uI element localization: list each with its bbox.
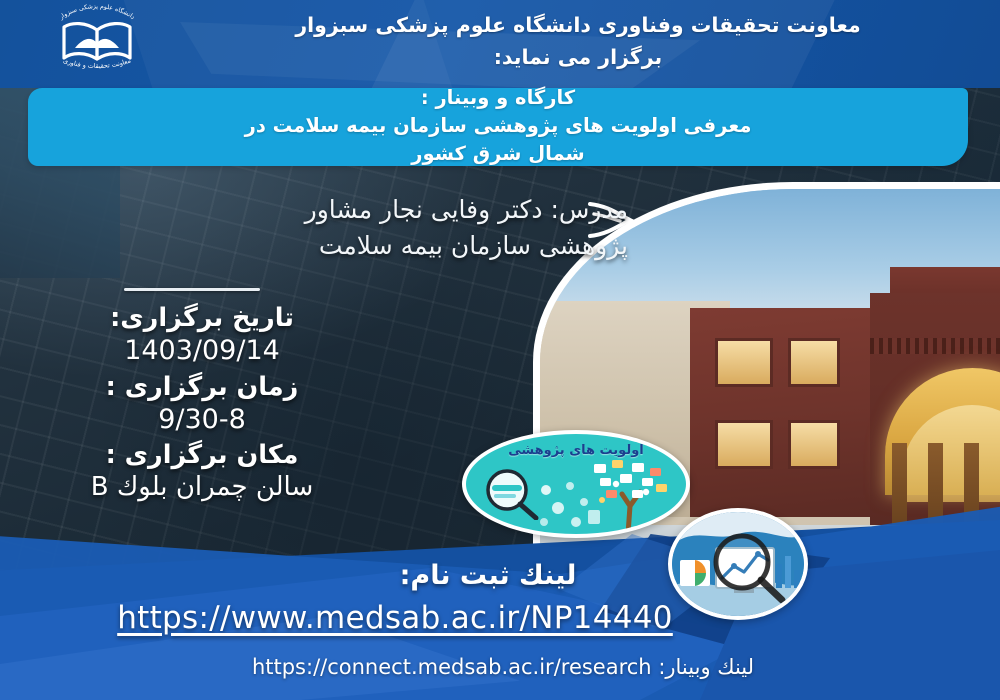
photo-balcony-railing (870, 338, 1000, 354)
university-logo: دانشگاه علوم پزشکی سبزوار معاونت تحقیقات… (38, 2, 156, 74)
detail-value-venue: سالن چمران بلوك B (0, 471, 404, 504)
title-banner: کارگاه و وبینار : معرفی اولویت های پژوهش… (28, 88, 968, 166)
poster-header: دانشگاه علوم پزشکی سبزوار معاونت تحقیقات… (0, 0, 1000, 88)
detail-value-time: 9/30-8 (0, 403, 404, 438)
header-title: معاونت تحقیقات وفناوری دانشگاه علوم پزشک… (178, 10, 978, 74)
research-priorities-badge: اولویت های پژوهشی (462, 430, 690, 538)
webinar-label: لینك وبینار: (658, 655, 754, 679)
presenter-info: مدرس: دکتر وفایی نجار مشاور پژوهشی سازما… (68, 192, 628, 263)
photo-column (892, 443, 907, 525)
presenter-line1: مدرس: دکتر وفایی نجار مشاور (305, 195, 628, 224)
banner-line3: شمال شرق کشور (54, 140, 942, 168)
section-divider (124, 288, 260, 291)
photo-window (715, 420, 773, 468)
photo-window (715, 338, 773, 386)
event-poster: دانشگاه علوم پزشکی سبزوار معاونت تحقیقات… (0, 0, 1000, 700)
photo-column (928, 443, 943, 525)
event-details: تاریخ برگزاری: 1403/09/14 زمان برگزاری :… (0, 302, 404, 507)
detail-label-time: زمان برگزاری : (0, 371, 404, 403)
knowledge-tree-icon (588, 460, 672, 538)
svg-text:دانشگاه علوم پزشکی سبزوار: دانشگاه علوم پزشکی سبزوار (57, 3, 136, 21)
registration-link[interactable]: https://www.medsab.ac.ir/NP14440 (0, 600, 790, 636)
detail-value-date: 1403/09/14 (0, 334, 404, 369)
detail-label-venue: مکان برگزاری : (0, 439, 404, 471)
research-priorities-title: اولویت های پژوهشی (466, 443, 686, 458)
banner-line1: کارگاه و وبینار : (54, 84, 942, 112)
presenter-line2: پژوهشی سازمان بیمه سلامت (68, 228, 628, 264)
webinar-link-row: لینك وبینار: https://connect.medsab.ac.i… (28, 655, 978, 679)
header-title-line1: معاونت تحقیقات وفناوری دانشگاه علوم پزشک… (295, 13, 860, 37)
header-title-line2: برگزار می نماید: (178, 42, 978, 74)
registration-label: لینك ثبت نام: (308, 560, 668, 591)
detail-label-date: تاریخ برگزاری: (0, 302, 404, 334)
banner-line2: معرفی اولویت های پژوهشی سازمان بیمه سلام… (54, 112, 942, 140)
photo-window (788, 420, 840, 468)
photo-window (788, 338, 840, 386)
webinar-link[interactable]: https://connect.medsab.ac.ir/research (252, 655, 652, 679)
